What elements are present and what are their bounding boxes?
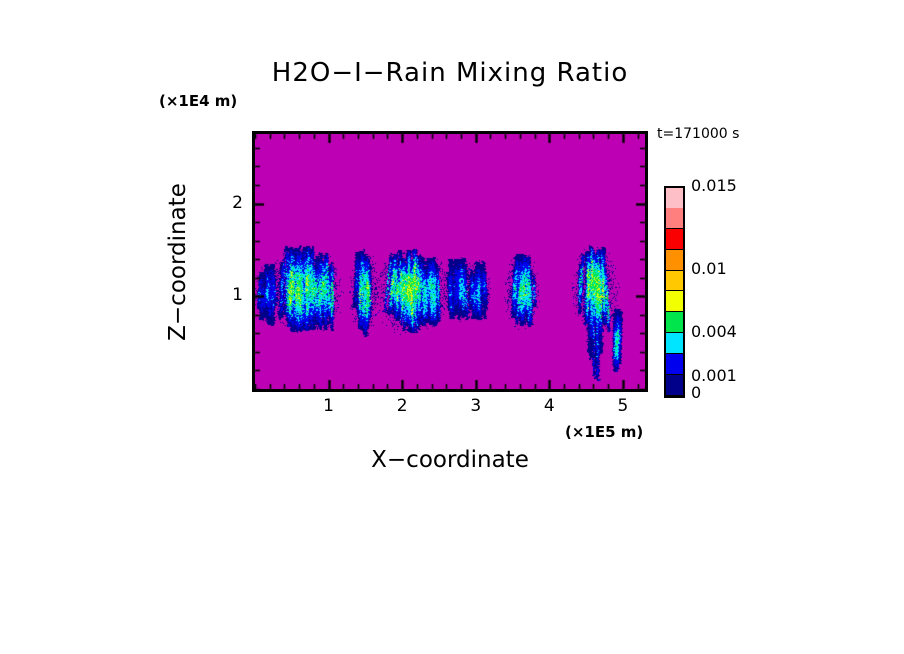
colorbar-band <box>666 312 683 333</box>
x-tick-label: 3 <box>456 396 496 416</box>
timestamp-annotation: t=171000 s <box>657 126 739 142</box>
x-tick-label: 5 <box>603 396 643 416</box>
colorbar-band <box>666 271 683 292</box>
page-title: H2O−I−Rain Mixing Ratio <box>252 58 648 88</box>
y-axis-title: Z−coordinate <box>165 183 191 341</box>
plot-area <box>252 131 648 392</box>
y-axis-unit-label: (×1E4 m) <box>159 92 237 110</box>
colorbar-band <box>666 229 683 250</box>
colorbar <box>664 186 685 398</box>
colorbar-band <box>666 208 683 229</box>
x-axis-unit-label: (×1E5 m) <box>565 423 643 441</box>
x-tick-label: 2 <box>382 396 422 416</box>
x-tick-label: 1 <box>309 396 349 416</box>
colorbar-band <box>666 354 683 375</box>
figure-root: H2O−I−Rain Mixing Ratio (×1E4 m) t=17100… <box>0 0 904 654</box>
colorbar-band <box>666 375 683 396</box>
colorbar-band <box>666 188 683 208</box>
x-tick-label: 4 <box>529 396 569 416</box>
y-tick-label: 2 <box>203 193 243 213</box>
colorbar-tick-label: 0 <box>691 383 701 402</box>
colorbar-band <box>666 333 683 354</box>
heatmap-canvas <box>255 134 645 389</box>
colorbar-tick-label: 0.015 <box>691 176 737 195</box>
colorbar-tick-label: 0.01 <box>691 259 727 278</box>
colorbar-band <box>666 291 683 312</box>
x-axis-title: X−coordinate <box>252 447 648 473</box>
colorbar-tick-label: 0.004 <box>691 322 737 341</box>
y-tick-label: 1 <box>203 285 243 305</box>
colorbar-band <box>666 250 683 271</box>
